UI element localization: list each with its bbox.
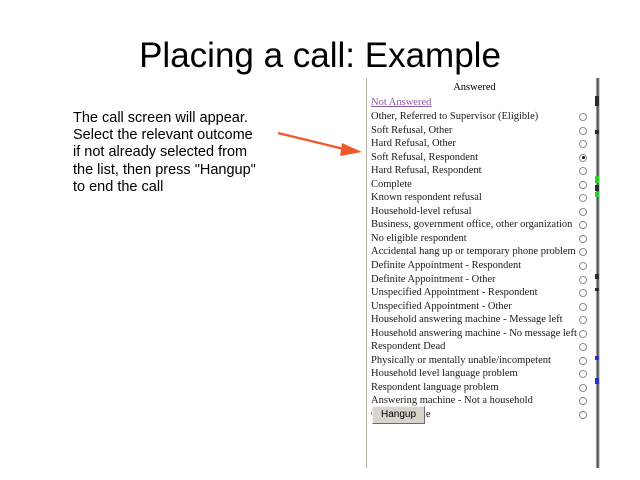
outcome-row[interactable]: Soft Refusal, Respondent [367,151,594,165]
outcome-label: Household level language problem [371,367,518,380]
edge-mark [595,185,599,191]
outcome-label: Business, government office, other organ… [371,218,572,231]
outcome-label: Complete [371,178,412,191]
outcome-label: Definite Appointment - Respondent [371,259,521,272]
outcome-radio-button[interactable] [579,221,587,229]
not-answered-link[interactable]: Not Answered [371,97,431,108]
outcome-label: Soft Refusal, Respondent [371,151,478,164]
outcome-row[interactable]: Definite Appointment - Other [367,273,594,287]
caption-line: if not already selected from [73,144,283,161]
outcome-row[interactable]: Business, government office, other organ… [367,218,594,232]
call-outcome-panel: Answered Not Answered Other, Referred to… [367,78,594,468]
edge-mark [595,288,599,291]
outcome-label: Physically or mentally unable/incompeten… [371,354,551,367]
outcome-radio-button[interactable] [579,370,587,378]
outcome-row[interactable]: No eligible respondent [367,232,594,246]
outcome-row[interactable]: Respondent language problem [367,381,594,395]
outcome-row[interactable]: Physically or mentally unable/incompeten… [367,354,594,368]
hangup-button[interactable]: Hangup [372,406,425,424]
outcome-label: Known respondent refusal [371,191,482,204]
callout-arrow-icon [276,126,366,160]
outcome-label: Household answering machine - No message… [371,327,577,340]
outcome-radio-button[interactable] [579,127,587,135]
outcome-row[interactable]: Other, Referred to Supervisor (Eligible) [367,110,594,124]
outcome-radio-button[interactable] [579,113,587,121]
outcome-list: Other, Referred to Supervisor (Eligible)… [367,110,594,422]
outcome-radio-button[interactable] [579,276,587,284]
outcome-label: Respondent language problem [371,381,499,394]
outcome-radio-button[interactable] [579,248,587,256]
window-edge-scrollbar[interactable] [594,78,600,468]
outcome-row[interactable]: Unspecified Appointment - Other [367,300,594,314]
edge-mark [595,274,599,279]
outcome-radio-button[interactable] [579,316,587,324]
caption-text-block: The call screen will appear. Select the … [73,110,283,196]
outcome-radio-button[interactable] [579,235,587,243]
outcome-row[interactable]: Complete [367,178,594,192]
outcome-row[interactable]: Household answering machine - Message le… [367,313,594,327]
edge-mark [595,356,599,360]
embedded-app-screenshot: Answered Not Answered Other, Referred to… [366,78,600,468]
outcome-row[interactable]: Hard Refusal, Respondent [367,164,594,178]
edge-mark [595,130,599,134]
caption-line: The call screen will appear. [73,110,283,127]
outcome-radio-button[interactable] [579,411,587,419]
outcome-radio-button[interactable] [579,194,587,202]
outcome-radio-button[interactable] [579,154,587,162]
outcome-radio-button[interactable] [579,303,587,311]
edge-mark [595,96,599,106]
edge-mark [595,192,599,197]
outcome-row[interactable]: Hard Refusal, Other [367,137,594,151]
outcome-radio-button[interactable] [579,384,587,392]
outcome-radio-button[interactable] [579,262,587,270]
answered-column-header: Answered [367,82,582,93]
outcome-label: Respondent Dead [371,340,445,353]
outcome-radio-button[interactable] [579,208,587,216]
caption-line: the list, then press "Hangup" [73,162,283,179]
outcome-row[interactable]: Known respondent refusal [367,191,594,205]
outcome-label: Household-level refusal [371,205,472,218]
outcome-radio-button[interactable] [579,343,587,351]
edge-mark [595,176,599,183]
outcome-label: Household answering machine - Message le… [371,313,563,326]
outcome-row[interactable]: Household answering machine - No message… [367,327,594,341]
outcome-radio-button[interactable] [579,289,587,297]
outcome-label: Definite Appointment - Other [371,273,496,286]
outcome-row[interactable]: Accidental hang up or temporary phone pr… [367,245,594,259]
outcome-radio-button[interactable] [579,140,587,148]
caption-line: to end the call [73,179,283,196]
outcome-label: Hard Refusal, Other [371,137,456,150]
page-title: Placing a call: Example [0,36,640,76]
outcome-row[interactable]: Household-level refusal [367,205,594,219]
outcome-label: Unspecified Appointment - Other [371,300,512,313]
outcome-row[interactable]: Soft Refusal, Other [367,124,594,138]
outcome-radio-button[interactable] [579,357,587,365]
outcome-label: Other, Referred to Supervisor (Eligible) [371,110,538,123]
caption-line: Select the relevant outcome [73,127,283,144]
outcome-radio-button[interactable] [579,167,587,175]
outcome-radio-button[interactable] [579,330,587,338]
outcome-row[interactable]: Definite Appointment - Respondent [367,259,594,273]
outcome-label: Unspecified Appointment - Respondent [371,286,538,299]
outcome-label: Accidental hang up or temporary phone pr… [371,245,576,258]
edge-mark [595,378,599,384]
outcome-row[interactable]: Unspecified Appointment - Respondent [367,286,594,300]
outcome-label: No eligible respondent [371,232,467,245]
outcome-row[interactable]: Respondent Dead [367,340,594,354]
outcome-radio-button[interactable] [579,397,587,405]
outcome-label: Soft Refusal, Other [371,124,452,137]
outcome-radio-button[interactable] [579,181,587,189]
outcome-row[interactable]: Household level language problem [367,367,594,381]
outcome-label: Hard Refusal, Respondent [371,164,482,177]
